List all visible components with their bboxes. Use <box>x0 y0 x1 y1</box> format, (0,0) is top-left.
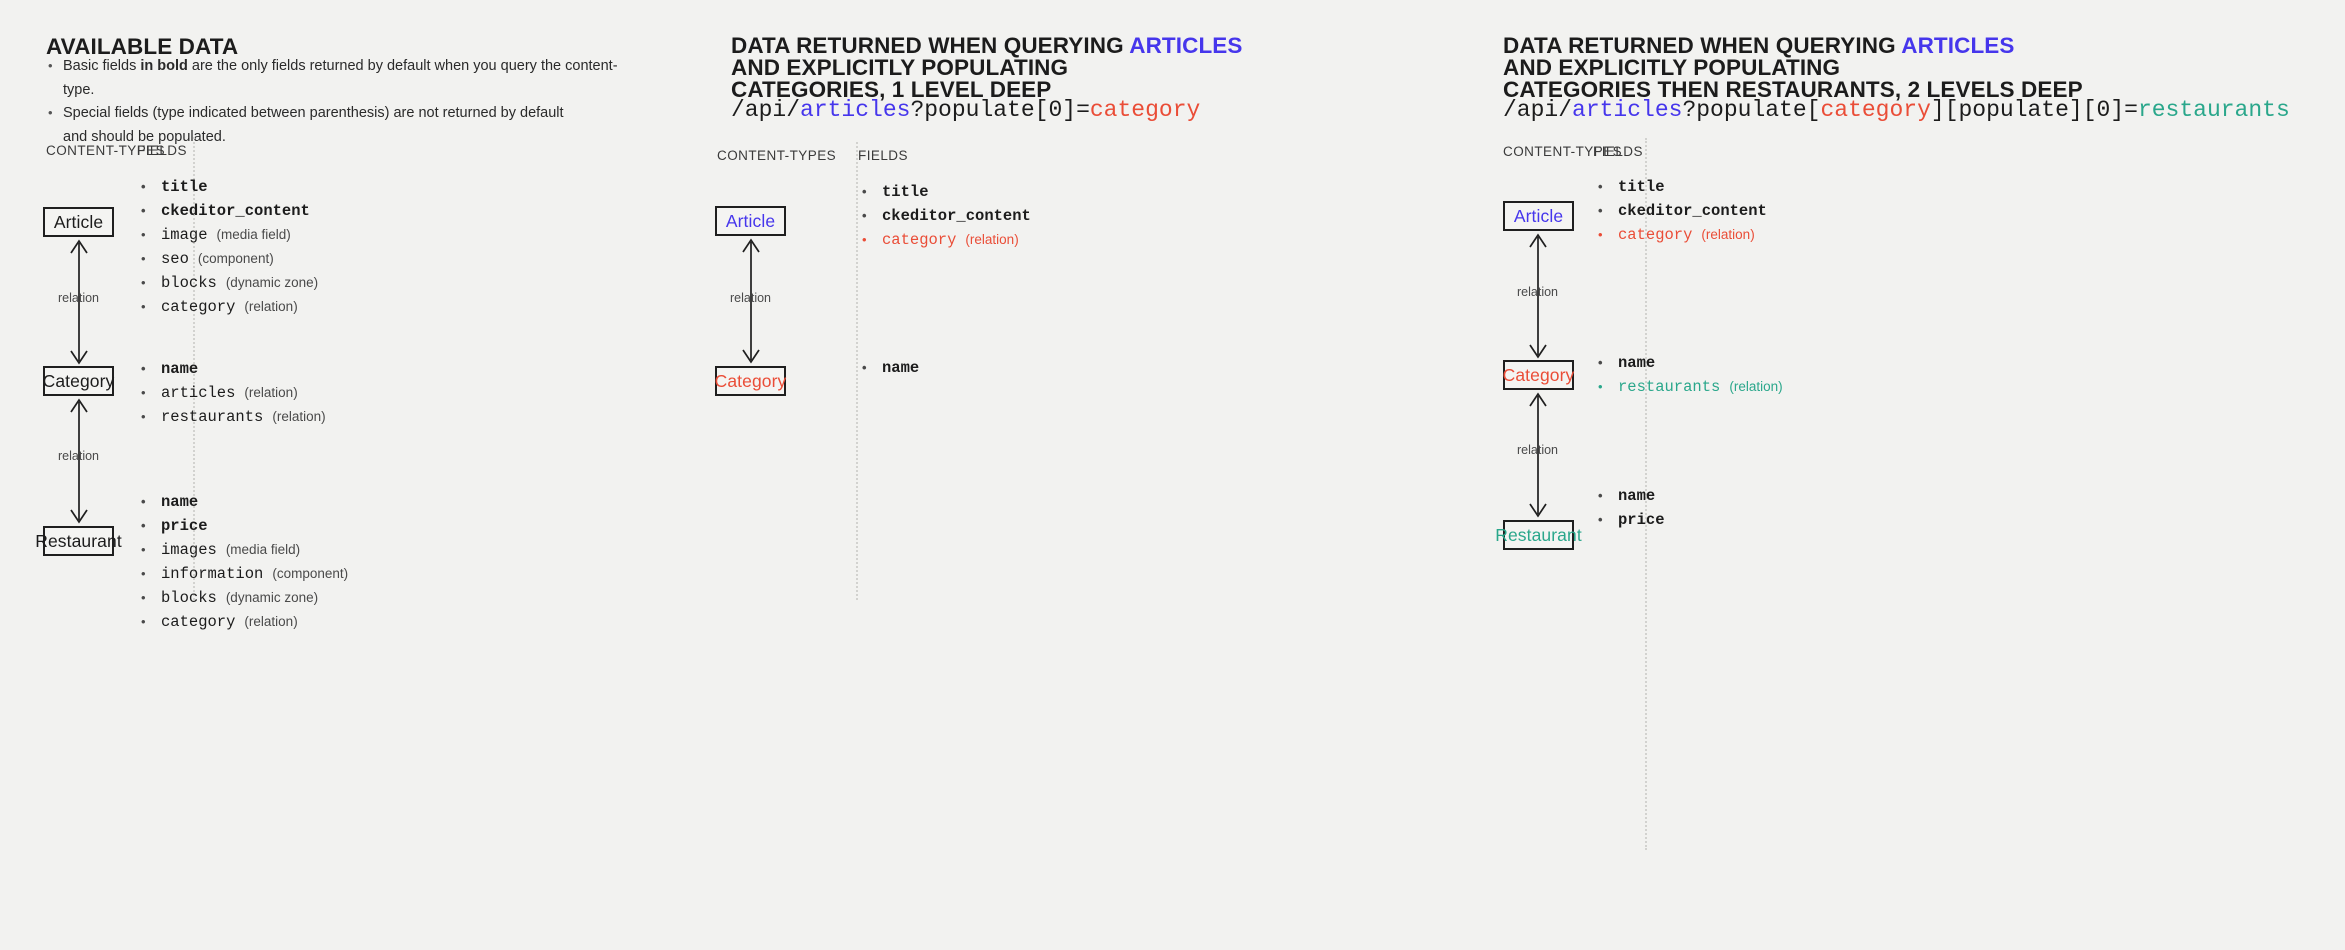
field-name: name <box>1618 354 1655 372</box>
field-type: (component) <box>272 566 348 581</box>
field-item: name <box>1598 351 1783 375</box>
field-name: ckeditor_content <box>1618 202 1767 220</box>
field-item: seo(component) <box>141 247 318 271</box>
field-item: category(relation) <box>141 295 318 319</box>
field-item: name <box>1598 484 1665 508</box>
url-segment-restaurants: restaurants <box>2138 97 2290 123</box>
note-row: Basic fields in bold are the only fields… <box>46 55 646 102</box>
heading-highlight: ARTICLES <box>1901 33 2014 58</box>
panel3-fields-label: FIELDS <box>1593 144 1643 159</box>
entity-box-article[interactable]: Article <box>43 207 114 237</box>
panel-populate-two-levels: DATA RETURNED WHEN QUERYING ARTICLES AND… <box>1488 0 2345 950</box>
entity-label: Article <box>1514 206 1563 227</box>
note-pre: Basic fields <box>63 58 140 74</box>
field-type: (relation) <box>1729 379 1782 394</box>
url-segment: ][populate][0]= <box>1931 97 2138 123</box>
panel1-restaurant-fields: name price images(media field) informati… <box>141 490 348 634</box>
url-segment: /api/ <box>731 97 800 123</box>
field-item: price <box>1598 508 1665 532</box>
entity-label: Restaurant <box>1495 525 1582 546</box>
field-type: (component) <box>198 251 274 266</box>
entity-label: Restaurant <box>35 531 122 552</box>
field-item: restaurants(relation) <box>1598 375 1783 399</box>
field-item: ckeditor_content <box>862 204 1031 228</box>
relation-label: relation <box>1517 285 1558 299</box>
url-segment: ?populate[ <box>1682 97 1820 123</box>
panel-populate-one-level: DATA RETURNED WHEN QUERYING ARTICLES AND… <box>718 0 1488 950</box>
field-type: (relation) <box>244 385 297 400</box>
field-name: name <box>882 359 919 377</box>
field-item: title <box>141 175 318 199</box>
entity-box-article[interactable]: Article <box>715 206 786 236</box>
relation-label: relation <box>1517 443 1558 457</box>
url-segment: ?populate[0]= <box>910 97 1089 123</box>
url-segment: /api/ <box>1503 97 1572 123</box>
entity-label: Article <box>726 211 775 232</box>
field-type: (relation) <box>244 614 297 629</box>
relation-label: relation <box>58 291 99 305</box>
field-name: category <box>1618 226 1692 244</box>
field-item: blocks(dynamic zone) <box>141 271 318 295</box>
field-name: name <box>1618 487 1655 505</box>
entity-box-article[interactable]: Article <box>1503 201 1574 231</box>
field-type: (dynamic zone) <box>226 275 318 290</box>
field-name: category <box>161 613 235 631</box>
entity-label: Category <box>1503 365 1575 386</box>
field-name: title <box>161 178 208 196</box>
field-name: category <box>882 231 956 249</box>
field-item: images(media field) <box>141 538 348 562</box>
relation-label: relation <box>730 291 771 305</box>
field-item: title <box>862 180 1031 204</box>
entity-box-category[interactable]: Category <box>1503 360 1574 390</box>
panel2-article-fields: title ckeditor_content category(relation… <box>862 180 1031 252</box>
note-pre: Special fields (type indicated between p… <box>63 105 564 121</box>
field-name: articles <box>161 384 235 402</box>
field-name: restaurants <box>1618 378 1720 396</box>
entity-label: Category <box>715 371 787 392</box>
field-name: title <box>1618 178 1665 196</box>
url-segment-articles: articles <box>1572 97 1682 123</box>
entity-label: Article <box>54 212 103 233</box>
field-name: blocks <box>161 274 217 292</box>
field-type: (relation) <box>244 299 297 314</box>
field-item: category(relation) <box>862 228 1031 252</box>
field-item: title <box>1598 175 1767 199</box>
panel1-category-fields: name articles(relation) restaurants(rela… <box>141 357 326 429</box>
field-name: price <box>1618 511 1665 529</box>
field-name: blocks <box>161 589 217 607</box>
panel3-article-fields: title ckeditor_content category(relation… <box>1598 175 1767 247</box>
url-segment-category: category <box>1090 97 1200 123</box>
field-item: ckeditor_content <box>1598 199 1767 223</box>
field-item: category(relation) <box>141 610 348 634</box>
panel3-api-url: /api/articles?populate[category][populat… <box>1503 97 2290 123</box>
panel3-restaurant-fields: name price <box>1598 484 1665 532</box>
field-name: image <box>161 226 208 244</box>
entity-box-restaurant[interactable]: Restaurant <box>43 526 114 556</box>
field-item: restaurants(relation) <box>141 405 326 429</box>
url-segment-category: category <box>1820 97 1930 123</box>
panel2-api-url: /api/articles?populate[0]=category <box>731 97 1200 123</box>
field-item: blocks(dynamic zone) <box>141 586 348 610</box>
panel2-content-types-label: CONTENT-TYPES <box>717 148 836 163</box>
field-name: category <box>161 298 235 316</box>
field-item: category(relation) <box>1598 223 1767 247</box>
field-name: title <box>882 183 929 201</box>
field-name: ckeditor_content <box>882 207 1031 225</box>
field-type: (relation) <box>272 409 325 424</box>
note-row: Special fields (type indicated between p… <box>46 102 646 126</box>
panel3-category-fields: name restaurants(relation) <box>1598 351 1783 399</box>
field-item: ckeditor_content <box>141 199 318 223</box>
field-type: (relation) <box>1701 227 1754 242</box>
note-bold: in bold <box>140 58 188 74</box>
panel2-column-divider <box>856 142 858 600</box>
panel2-category-fields: name <box>862 356 919 380</box>
entity-label: Category <box>43 371 115 392</box>
field-item: price <box>141 514 348 538</box>
field-name: images <box>161 541 217 559</box>
field-type: (media field) <box>217 227 291 242</box>
field-name: name <box>161 493 198 511</box>
panel1-fields-label: FIELDS <box>137 143 187 158</box>
panel1-notes: Basic fields in bold are the only fields… <box>46 55 646 149</box>
entity-box-category[interactable]: Category <box>715 366 786 396</box>
relation-label: relation <box>58 449 99 463</box>
field-name: price <box>161 517 208 535</box>
field-item: image(media field) <box>141 223 318 247</box>
field-name: information <box>161 565 263 583</box>
field-type: (relation) <box>965 232 1018 247</box>
field-item: name <box>862 356 919 380</box>
field-name: seo <box>161 250 189 268</box>
field-name: name <box>161 360 198 378</box>
field-item: name <box>141 357 326 381</box>
field-item: name <box>141 490 348 514</box>
heading-highlight: ARTICLES <box>1129 33 1242 58</box>
panel1-article-fields: title ckeditor_content image(media field… <box>141 175 318 319</box>
field-item: information(component) <box>141 562 348 586</box>
field-type: (media field) <box>226 542 300 557</box>
field-name: restaurants <box>161 408 263 426</box>
entity-box-restaurant[interactable]: Restaurant <box>1503 520 1574 550</box>
panel-available-data: AVAILABLE DATA Basic fields in bold are … <box>0 0 718 950</box>
field-type: (dynamic zone) <box>226 590 318 605</box>
field-name: ckeditor_content <box>161 202 310 220</box>
entity-box-category[interactable]: Category <box>43 366 114 396</box>
panel2-fields-label: FIELDS <box>858 148 908 163</box>
field-item: articles(relation) <box>141 381 326 405</box>
url-segment-articles: articles <box>800 97 910 123</box>
